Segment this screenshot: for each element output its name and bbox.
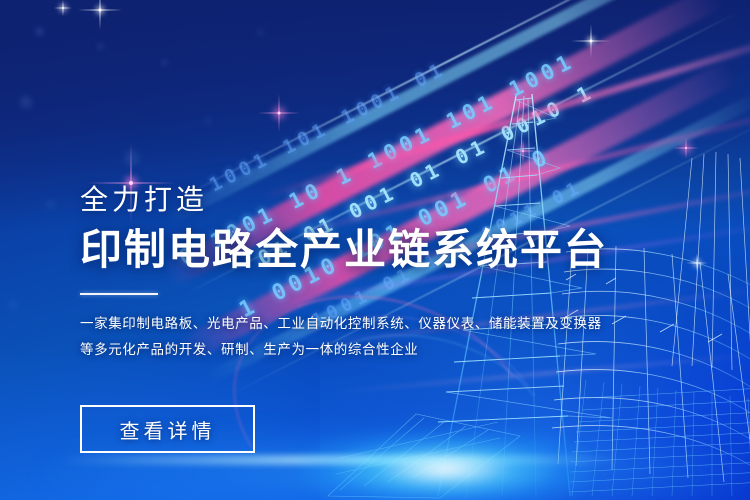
hero-banner: 1001 101 1001 01 0 1001 10 1 1001 101 10… — [0, 0, 750, 500]
hero-description-line-2: 等多元化产品的开发、研制、生产为一体的综合性企业 — [80, 337, 600, 363]
divider-rule — [80, 293, 158, 295]
hero-headline: 印制电路全产业链系统平台 — [80, 228, 600, 273]
view-details-button[interactable]: 查看详情 — [80, 405, 255, 453]
hero-eyebrow: 全力打造 — [80, 186, 600, 214]
hero-description-line-1: 一家集印制电路板、光电产品、工业自动化控制系统、仪器仪表、储能装置及变换器 — [80, 311, 600, 337]
hero-text-block: 全力打造 印制电路全产业链系统平台 一家集印制电路板、光电产品、工业自动化控制系… — [80, 186, 600, 363]
hero-description: 一家集印制电路板、光电产品、工业自动化控制系统、仪器仪表、储能装置及变换器 等多… — [80, 311, 600, 364]
